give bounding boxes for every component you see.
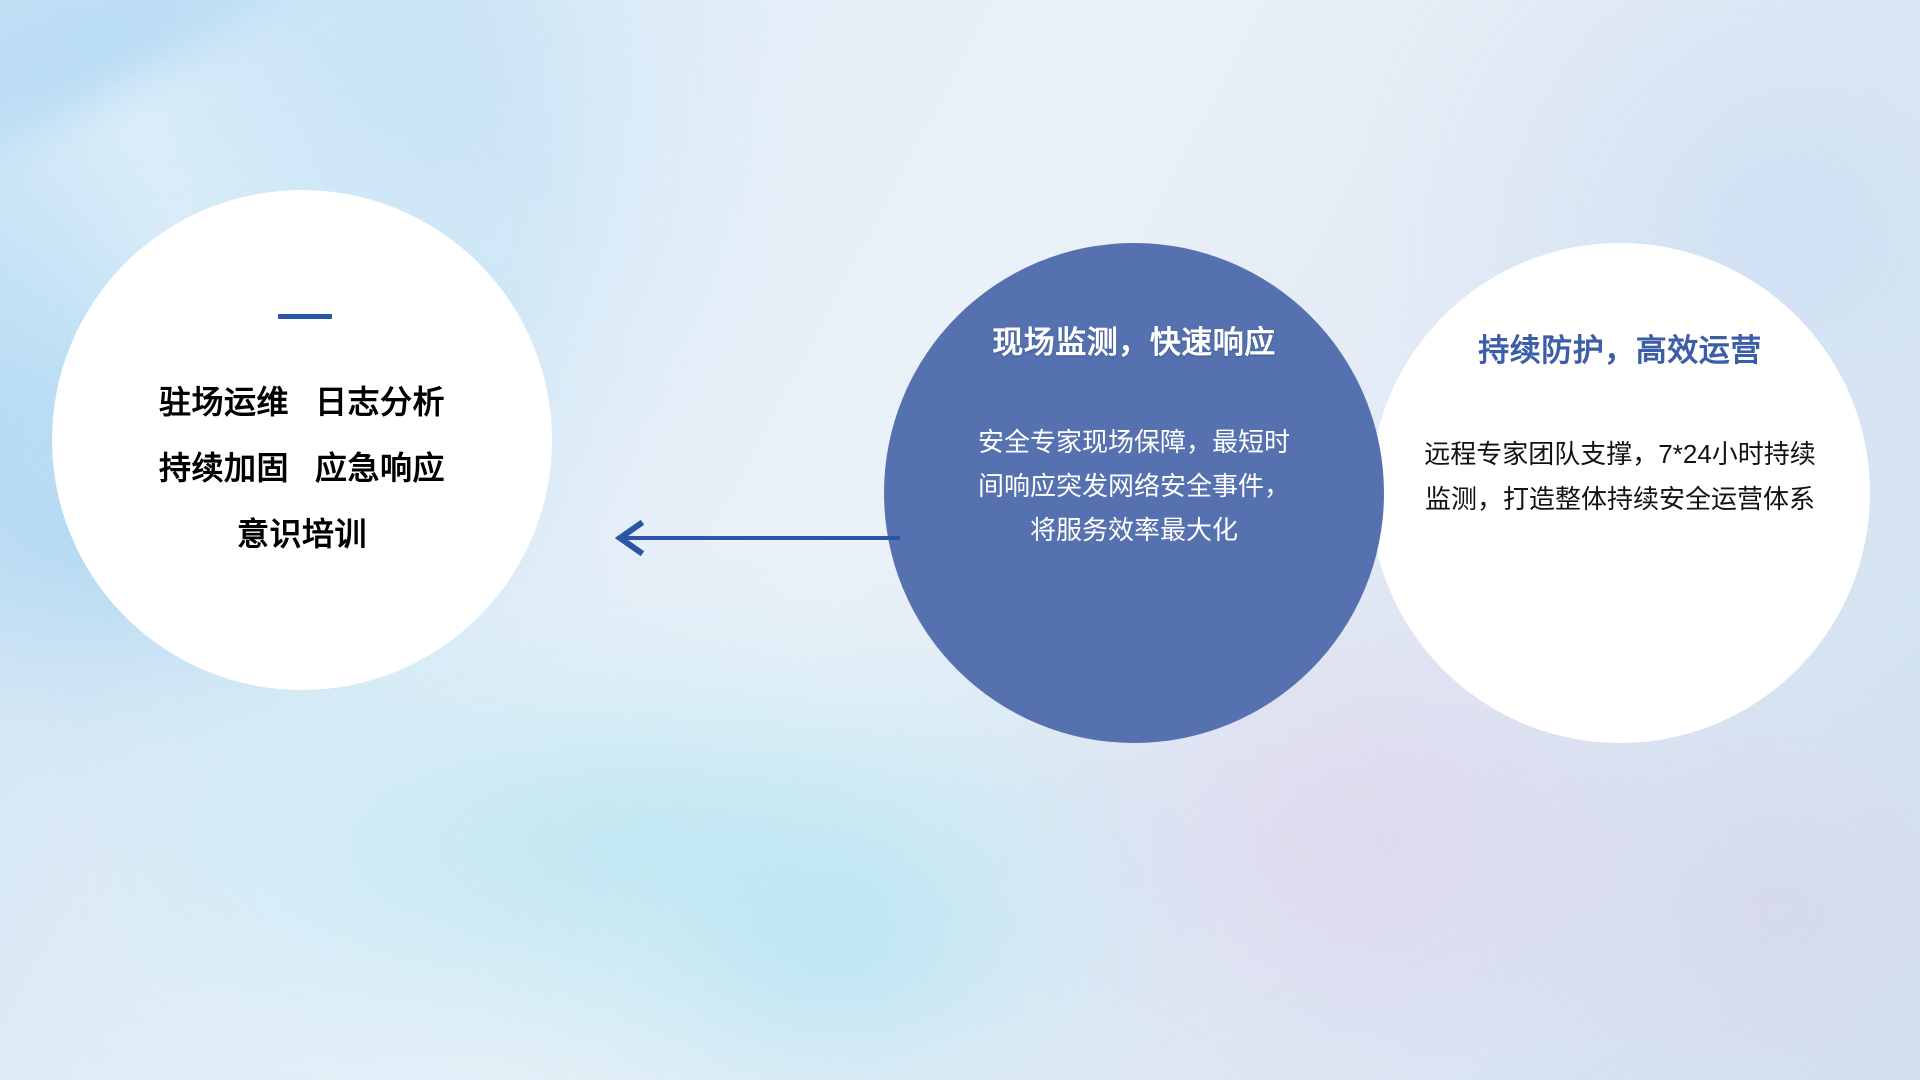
background-glow-cyan (520, 760, 1160, 1080)
middle-circle-body: 安全专家现场保障，最短时间响应突发网络安全事件，将服务效率最大化 (969, 420, 1299, 552)
left-keyword-4: 应急响应 (315, 450, 445, 486)
left-keyword-row-3: 意识培训 (159, 501, 445, 567)
right-circle-body: 远程专家团队支撑，7*24小时持续监测，打造整体持续安全运营体系 (1420, 432, 1820, 522)
left-circle-content: 驻场运维日志分析 持续加固应急响应 意识培训 (52, 190, 552, 690)
middle-circle-content: 现场监测，快速响应 安全专家现场保障，最短时间响应突发网络安全事件，将服务效率最… (884, 243, 1384, 743)
left-arrow-icon (600, 518, 900, 558)
left-keyword-1: 驻场运维 (159, 384, 289, 420)
left-keyword-row-1: 驻场运维日志分析 (159, 369, 445, 435)
left-keyword-2: 日志分析 (315, 384, 445, 420)
left-keyword-5: 意识培训 (237, 516, 367, 552)
left-keyword-3: 持续加固 (159, 450, 289, 486)
left-circle-divider (278, 314, 332, 319)
left-circle-keyword-list: 驻场运维日志分析 持续加固应急响应 意识培训 (159, 369, 445, 567)
middle-circle-title: 现场监测，快速响应 (992, 317, 1276, 362)
connector-arrow (600, 518, 900, 558)
right-circle-title: 持续防护，高效运营 (1478, 325, 1762, 370)
slide-canvas: 驻场运维日志分析 持续加固应急响应 意识培训 持续防护，高效运营 远程专家团队支… (0, 0, 1920, 1080)
left-keyword-row-2: 持续加固应急响应 (159, 435, 445, 501)
right-circle-content: 持续防护，高效运营 远程专家团队支撑，7*24小时持续监测，打造整体持续安全运营… (1370, 243, 1870, 743)
